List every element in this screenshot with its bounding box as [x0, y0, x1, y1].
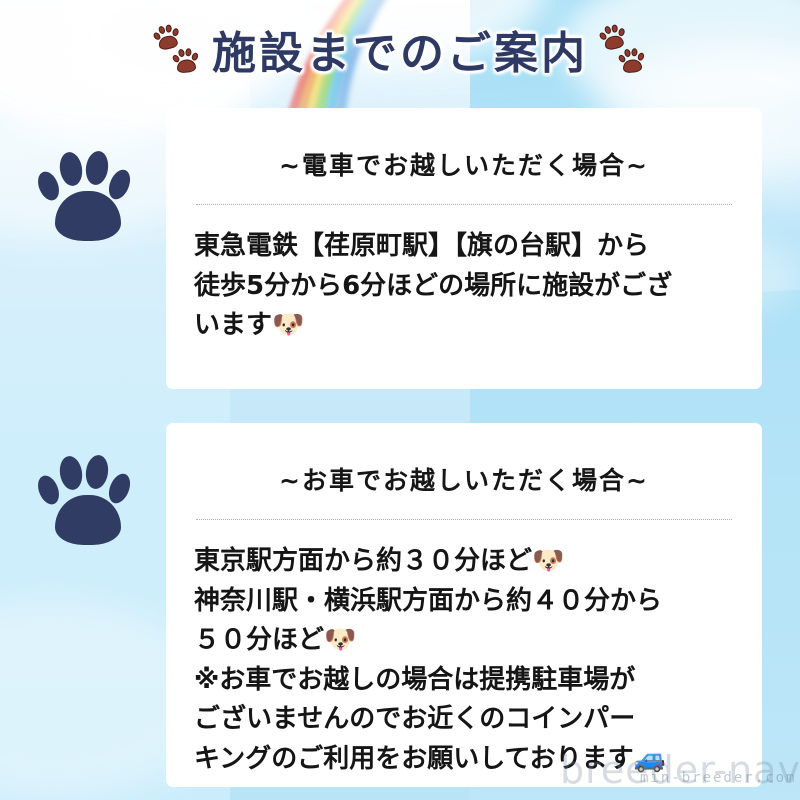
card-heading-train: ~電車でお越しいただく場合~	[166, 108, 762, 182]
page-title: 施設までのご案内	[212, 32, 588, 76]
card-heading-car: ~お車でお越しいただく場合~	[166, 423, 762, 497]
card-text-line: 東京駅方面から約３０分ほど🐶	[194, 542, 734, 582]
card-text-line: ５０分ほど🐶	[194, 621, 734, 661]
info-card-car: ~お車でお越しいただく場合~ 東京駅方面から約３０分ほど🐶 神奈川駅・横浜駅方面…	[166, 423, 762, 787]
watermark-secondary: min-breeder.com	[640, 770, 796, 786]
paw-print-icon	[36, 449, 140, 553]
page-title-row: 施設までのご案内	[0, 18, 800, 90]
card-body-car: 東京駅方面から約３０分ほど🐶 神奈川駅・横浜駅方面から約４０分から ５０分ほど🐶…	[194, 542, 734, 779]
info-card-train: ~電車でお越しいただく場合~ 東急電鉄【荏原町駅】【旗の台駅】から 徒歩5分から…	[166, 108, 762, 389]
card-divider	[196, 519, 732, 520]
paw-print-icon	[36, 145, 140, 249]
card-text-line: 東急電鉄【荏原町駅】【旗の台駅】から	[194, 227, 734, 267]
card-divider	[196, 204, 732, 205]
card-text-line: 神奈川駅・横浜駅方面から約４０分から	[194, 582, 734, 622]
card-text-line: 徒歩5分から6分ほどの場所に施設がござ	[194, 267, 734, 307]
card-text-line: ございませんのでお近くのコインパー	[194, 700, 734, 740]
guide-page: 施設までのご案内 ~電車でお越しいただく場合~ 東急電鉄【荏	[0, 0, 800, 800]
paw-print-icon	[150, 25, 204, 83]
card-text-line: います🐶	[194, 306, 734, 346]
paw-print-icon	[596, 25, 650, 83]
card-body-train: 東急電鉄【荏原町駅】【旗の台駅】から 徒歩5分から6分ほどの場所に施設がござ い…	[194, 227, 734, 346]
card-text-line: ※お車でお越しの場合は提携駐車場が	[194, 661, 734, 701]
